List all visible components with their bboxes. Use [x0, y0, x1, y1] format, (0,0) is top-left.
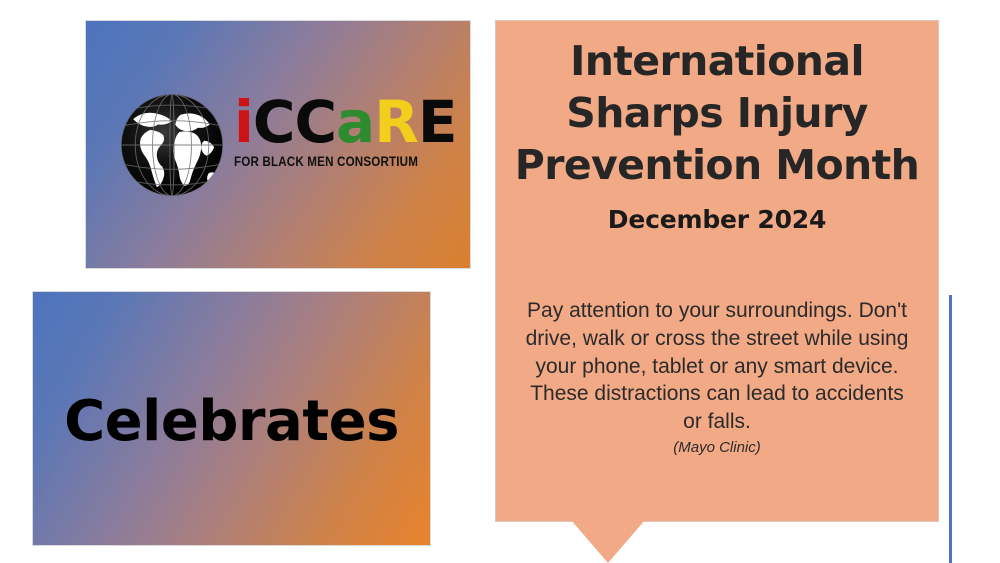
safety-tip-text: Pay attention to your surroundings. Don'… — [520, 297, 914, 436]
bubble-content: International Sharps Injury Prevention M… — [496, 21, 938, 521]
iccare-wordmark: iCCaRE — [234, 95, 456, 151]
wordmark-letter-a: a — [336, 88, 374, 156]
wordmark-letter-e: E — [418, 88, 457, 156]
wordmark-letter-c1: C — [253, 88, 295, 156]
wordmark-block: iCCaRE FOR BLACK MEN CONSORTIUM — [234, 95, 456, 169]
speech-bubble-tail — [571, 520, 645, 563]
logo-lockup: iCCaRE FOR BLACK MEN CONSORTIUM — [118, 89, 456, 199]
wordmark-letter-r: R — [374, 88, 418, 156]
source-attribution: (Mayo Clinic) — [504, 439, 930, 456]
page-title: International Sharps Injury Prevention M… — [504, 35, 930, 191]
logo-tagline: FOR BLACK MEN CONSORTIUM — [234, 154, 425, 169]
wordmark-letter-c2: C — [294, 88, 336, 156]
celebrates-panel: Celebrates — [33, 292, 430, 545]
globe-icon — [118, 91, 226, 199]
celebrates-text: Celebrates — [64, 389, 399, 454]
announcement-speech-bubble: International Sharps Injury Prevention M… — [496, 21, 938, 521]
wordmark-letter-i: i — [234, 88, 253, 156]
subtitle-date: December 2024 — [504, 205, 930, 234]
iccare-logo-panel: iCCaRE FOR BLACK MEN CONSORTIUM — [86, 21, 470, 268]
right-vertical-rule — [949, 295, 952, 563]
